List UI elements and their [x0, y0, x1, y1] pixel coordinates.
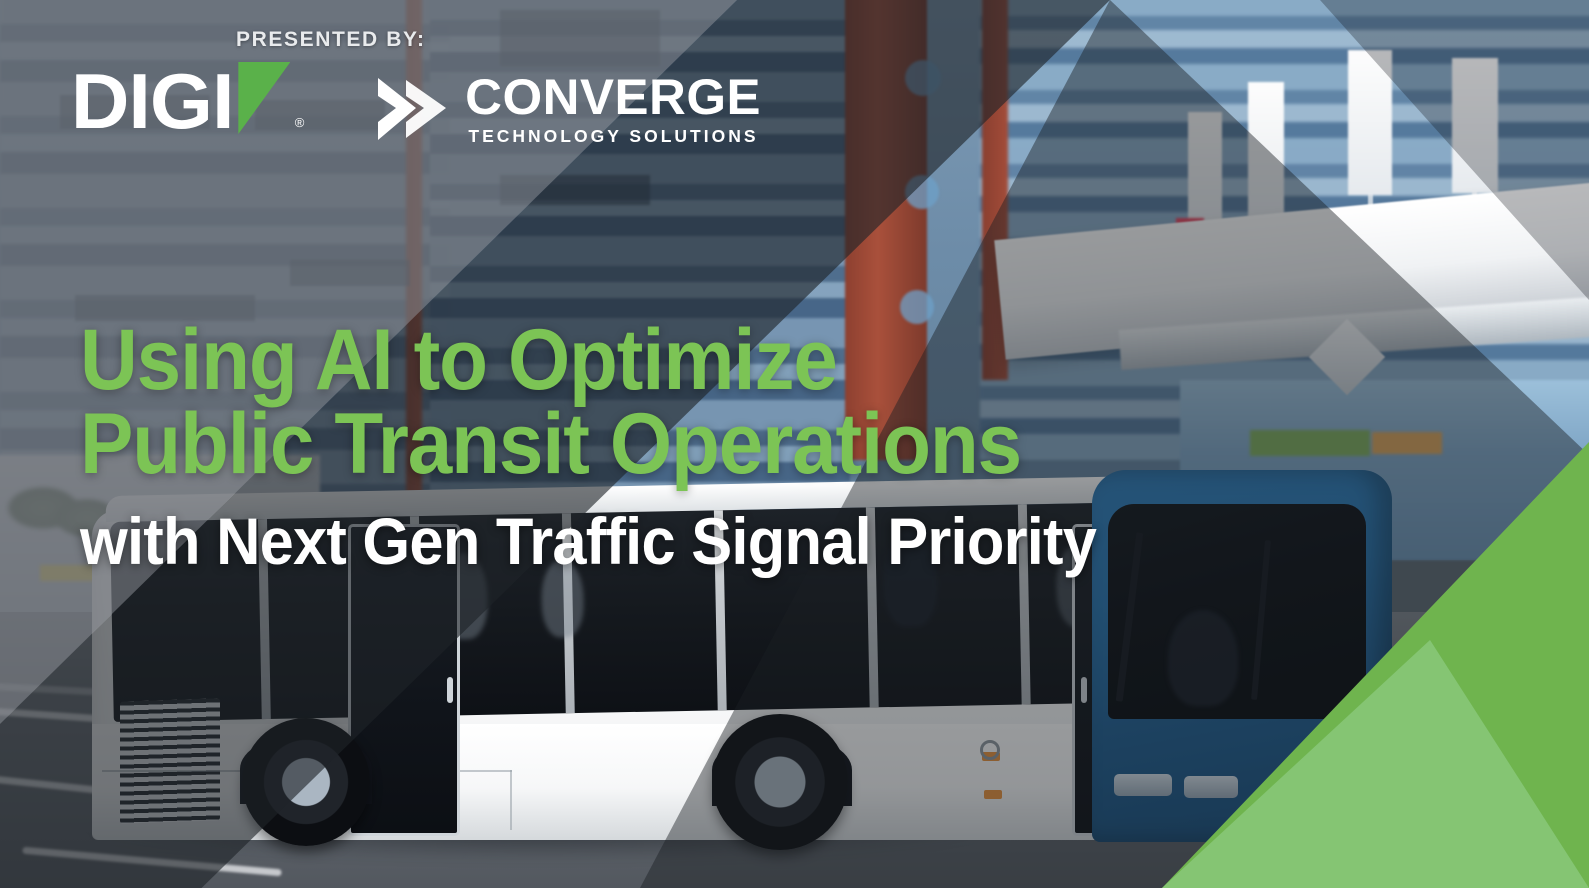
sponsor-logo-row: DIGI ® CONVERGE TECHNOLOGY SOLUTIONS	[74, 62, 759, 146]
subtitle: with Next Gen Traffic Signal Priority	[80, 508, 1096, 574]
headline-block: Using AI to Optimize Public Transit Oper…	[80, 318, 1092, 487]
double-chevron-icon	[376, 74, 450, 144]
digi-green-triangle-icon	[238, 62, 290, 134]
digi-logo: DIGI ®	[74, 62, 290, 134]
slide-canvas: PRESENTED BY: DIGI ® CONVERGE TECHNOLOGY…	[0, 0, 1589, 888]
converge-wordmark: CONVERGE	[465, 72, 761, 122]
digi-wordmark: DIGI	[71, 70, 234, 134]
headline-line-1: Using AI to Optimize	[80, 318, 1021, 402]
digi-registered-mark: ®	[295, 115, 305, 130]
presented-by-label: PRESENTED BY:	[236, 28, 426, 52]
converge-tagline: TECHNOLOGY SOLUTIONS	[468, 128, 758, 146]
converge-logo: CONVERGE TECHNOLOGY SOLUTIONS	[376, 62, 758, 146]
converge-wordmark-group: CONVERGE TECHNOLOGY SOLUTIONS	[468, 72, 758, 146]
headline-line-2: Public Transit Operations	[80, 402, 1021, 486]
slide-content: PRESENTED BY: DIGI ® CONVERGE TECHNOLOGY…	[0, 0, 1589, 888]
